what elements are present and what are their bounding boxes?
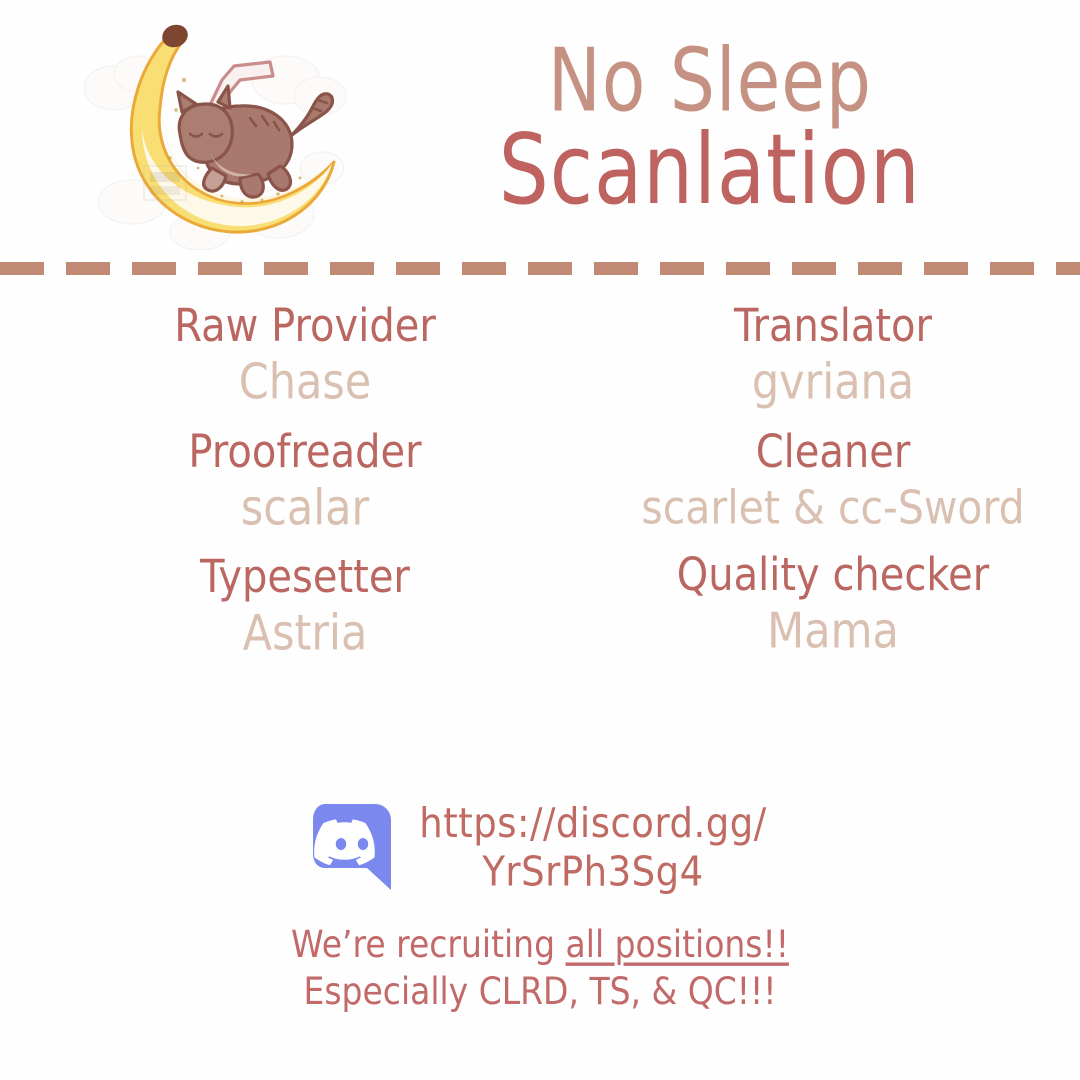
discord-invite-url[interactable]: https://discord.gg/ YrSrPh3Sg4 — [419, 799, 766, 895]
recruiting-line-1: We’re recruiting all positions!! — [0, 918, 1080, 971]
credit-name: scarlet & cc-Sword — [598, 479, 1068, 536]
credit-name: scalar — [70, 479, 540, 539]
credit-name: Astria — [70, 604, 540, 664]
title-line-no-sleep: No Sleep — [548, 38, 872, 124]
credit-name: gvriana — [598, 353, 1068, 413]
recruiting-emphasis: all positions!! — [566, 921, 789, 965]
credit-entry: Quality checker Mama — [598, 549, 1068, 655]
credit-role: Quality checker — [598, 549, 1068, 603]
sleeping-cat-on-banana-moon-logo — [72, 18, 362, 250]
credit-entry: Raw Provider Chase — [70, 300, 540, 406]
discord-icon[interactable] — [313, 804, 393, 892]
title-line-scanlation: Scanlation — [499, 124, 921, 219]
credit-entry: Cleaner scarlet & cc-Sword — [598, 426, 1068, 529]
header: No Sleep Scanlation — [0, 0, 1080, 250]
credit-role: Proofreader — [70, 426, 540, 480]
discord-url-line-2: YrSrPh3Sg4 — [419, 848, 766, 896]
recruiting-prefix: We’re recruiting — [291, 921, 566, 965]
credit-role: Cleaner — [598, 426, 1068, 480]
credits-section: Raw Provider Chase Proofreader scalar Ty… — [0, 300, 1080, 750]
credit-name: Mama — [598, 602, 1068, 662]
brand-title: No Sleep Scanlation — [360, 8, 1060, 248]
credits-left-column: Raw Provider Chase Proofreader scalar Ty… — [70, 300, 540, 677]
credit-role: Raw Provider — [70, 300, 540, 354]
credits-right-column: Translator gvriana Cleaner scarlet & cc-… — [598, 300, 1068, 674]
discord-invite-row[interactable]: https://discord.gg/ YrSrPh3Sg4 — [0, 795, 1080, 900]
poster-root: No Sleep Scanlation Raw Provider Chase P… — [0, 0, 1080, 1080]
discord-url-line-1: https://discord.gg/ — [419, 799, 766, 847]
credit-entry: Translator gvriana — [598, 300, 1068, 406]
credit-name: Chase — [70, 353, 540, 413]
dashed-divider — [0, 262, 1080, 275]
recruiting-line-2: Especially CLRD, TS, & QC!!! — [0, 965, 1080, 1018]
credit-role: Typesetter — [70, 551, 540, 605]
recruiting-section: We’re recruiting all positions!! Especia… — [0, 918, 1080, 1012]
credit-entry: Proofreader scalar — [70, 426, 540, 532]
credit-role: Translator — [598, 300, 1068, 354]
credit-entry: Typesetter Astria — [70, 551, 540, 657]
